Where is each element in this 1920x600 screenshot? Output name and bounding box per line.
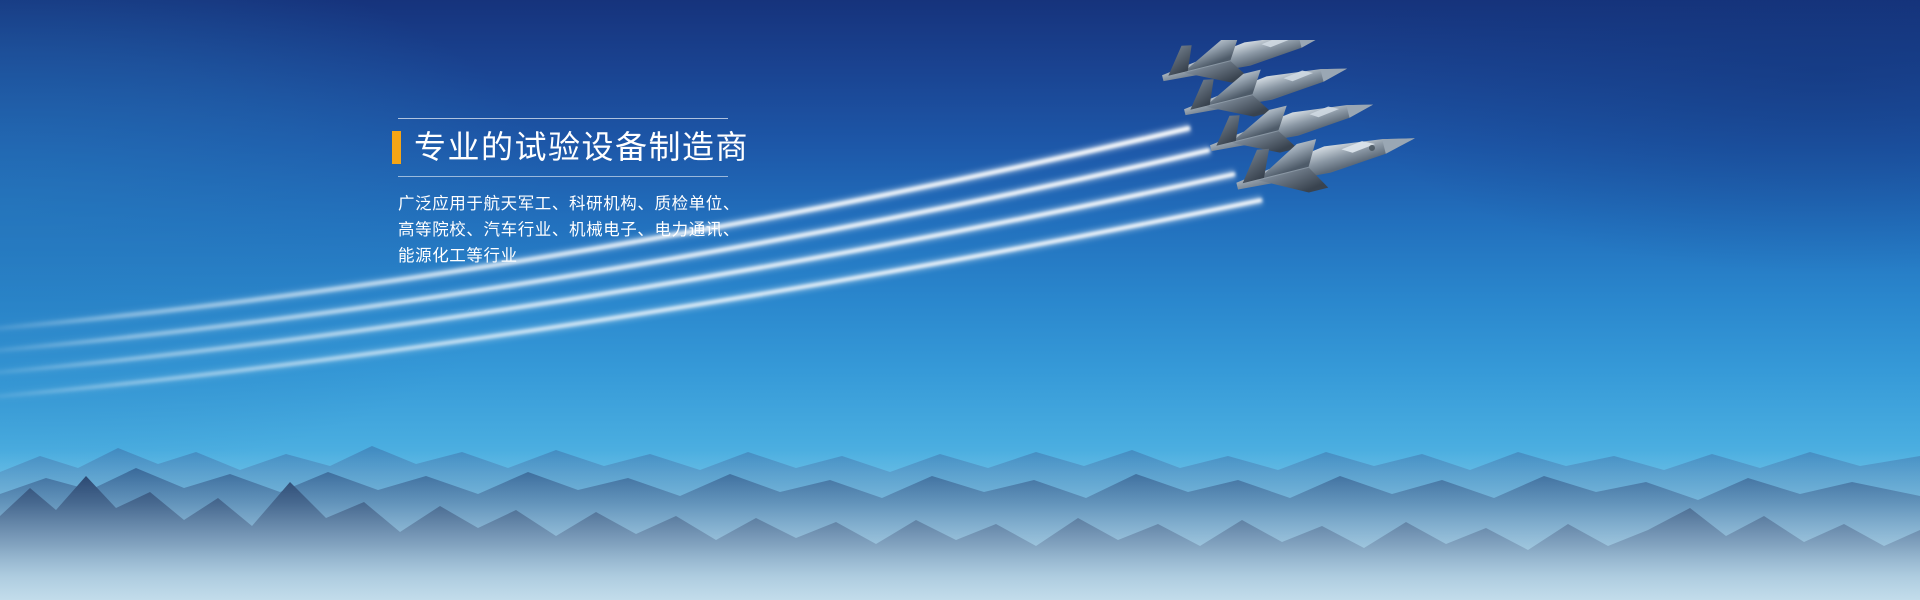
subtitle-line-3: 能源化工等行业 [398,243,772,269]
divider-top [398,118,728,119]
divider-bottom [398,176,728,177]
banner-subtitle: 广泛应用于航天军工、科研机构、质检单位、 高等院校、汽车行业、机械电子、电力通讯… [398,191,772,269]
banner-text-block: 专业的试验设备制造商 广泛应用于航天军工、科研机构、质检单位、 高等院校、汽车行… [392,118,772,269]
sky-haze-left [0,0,960,600]
subtitle-line-2: 高等院校、汽车行业、机械电子、电力通讯、 [398,217,772,243]
hero-banner: 专业的试验设备制造商 广泛应用于航天军工、科研机构、质检单位、 高等院校、汽车行… [0,0,1920,600]
page-title: 专业的试验设备制造商 [414,130,749,164]
accent-bar [392,131,401,164]
sky-glow-right [960,0,1920,360]
headline-row: 专业的试验设备制造商 [392,130,772,164]
subtitle-line-1: 广泛应用于航天军工、科研机构、质检单位、 [398,191,772,217]
